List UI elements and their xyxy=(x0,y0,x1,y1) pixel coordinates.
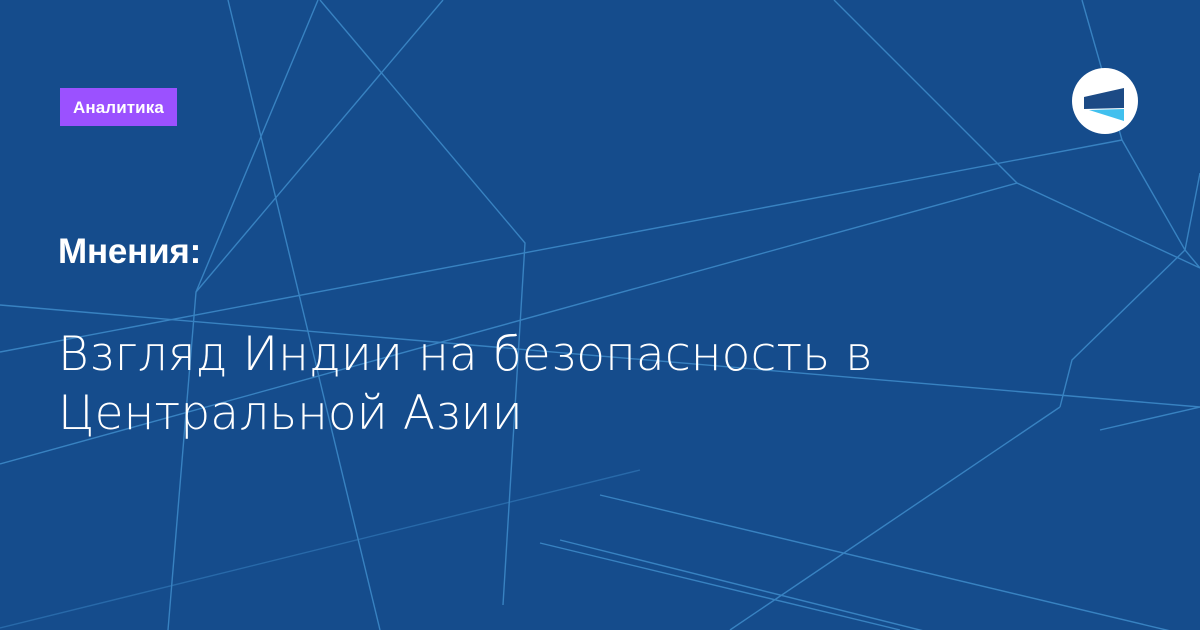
category-badge[interactable]: Аналитика xyxy=(60,88,177,126)
bg-line xyxy=(1122,140,1200,268)
article-headline: Взгляд Индии на безопасность в Центральн… xyxy=(58,325,898,443)
social-share-card: Аналитика Мнения: Взгляд Индии на безопа… xyxy=(0,0,1200,630)
bg-line xyxy=(196,0,443,292)
bg-line xyxy=(1185,173,1200,250)
bg-line xyxy=(1100,407,1200,430)
bg-line xyxy=(834,0,1200,268)
polygon-network-pattern xyxy=(0,0,1200,630)
bg-line xyxy=(560,540,1200,630)
brand-logo[interactable] xyxy=(1072,68,1138,134)
article-kicker: Мнения: xyxy=(58,234,201,271)
bg-line xyxy=(0,470,640,628)
bg-line xyxy=(228,0,380,630)
bg-line xyxy=(1060,250,1185,407)
bg-line xyxy=(320,0,525,605)
bg-line xyxy=(540,543,900,630)
bg-line xyxy=(168,0,318,630)
bg-line xyxy=(600,495,1200,630)
category-badge-label: Аналитика xyxy=(73,99,164,116)
